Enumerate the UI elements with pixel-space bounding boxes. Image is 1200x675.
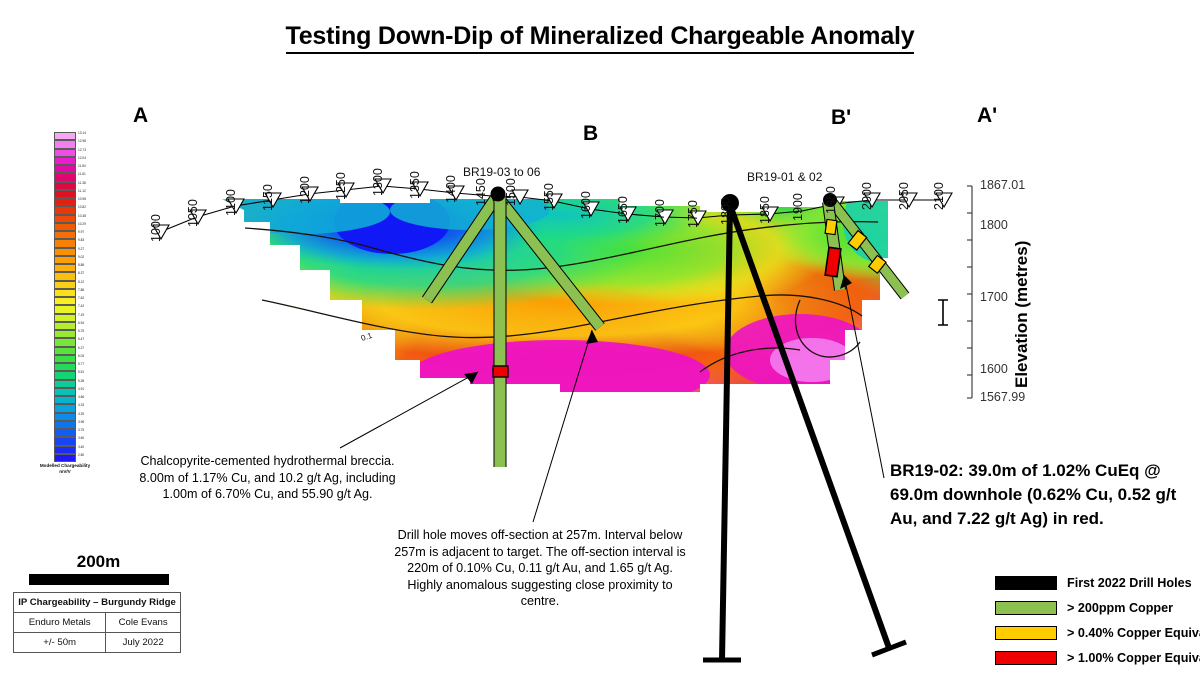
section-end-label: B' [831,106,851,130]
legend-item: > 200ppm Copper [995,595,1195,620]
station-label: 1700 [653,199,667,227]
station-label: 1100 [224,189,238,216]
station-label: 1900 [791,193,805,221]
station-label: 1850 [758,196,772,224]
legend-swatch [995,601,1057,615]
station-label: 1250 [334,172,348,200]
elevation-tick-1700: 1700 [980,290,1008,304]
station-label: 1000 [149,214,163,242]
section-end-label: A' [977,104,997,128]
legend-label: > 0.40% Copper Equivalent [1067,626,1200,640]
elevation-axis [967,186,972,398]
info-table: IP Chargeability – Burgundy Ridge Enduro… [13,592,181,653]
station-label: 1550 [542,183,556,211]
legend-item: > 0.40% Copper Equivalent [995,620,1195,645]
annotation-off-section: Drill hole moves off-section at 257m. In… [390,527,690,610]
scale-bar-label: 200m [16,552,181,572]
info-table-accuracy: +/- 50m [14,633,106,653]
station-label: 1500 [504,178,518,206]
legend-item: First 2022 Drill Holes [995,570,1195,595]
station-label: 1450 [474,178,488,206]
info-table-company: Enduro Metals [14,613,106,633]
station-label: 2050 [897,182,911,210]
station-label: 1800 [719,197,733,225]
elevation-tick-1800: 1800 [980,218,1008,232]
station-label: 1750 [686,200,700,228]
section-end-label: B [583,122,598,146]
annotation-chalcopyrite: Chalcopyrite-cemented hydrothermal brecc… [130,453,405,503]
legend-label: > 1.00% Copper Equivalent [1067,651,1200,665]
elevation-axis-title: Elevation (metres) [1012,241,1032,388]
station-label: 1050 [186,199,200,227]
station-label: 1350 [408,171,422,199]
station-label: 2100 [932,182,946,210]
station-label: 1600 [579,191,593,219]
legend-swatch [995,626,1057,640]
elevation-tick-1568: 1567.99 [980,390,1025,404]
station-label: 2000 [860,182,874,210]
legend-label: > 200ppm Copper [1067,601,1173,615]
scale-bar [29,574,169,585]
figure-canvas: Testing Down-Dip of Mineralized Chargeab… [0,0,1200,675]
station-label: 1300 [371,168,385,196]
info-table-author: Cole Evans [106,613,181,633]
station-label: 1400 [444,175,458,203]
mineralized-interval-red [493,366,508,377]
drillhole-collar-label: BR19-03 to 06 [463,165,540,179]
section-end-label: A [133,104,148,128]
annotation-br19-02: BR19-02: 39.0m of 1.02% CuEq @ 69.0m dow… [890,459,1190,531]
legend-swatch [995,651,1057,665]
legend-label: First 2022 Drill Holes [1067,576,1192,590]
legend-swatch [995,576,1057,590]
contour-label: 0.1 [360,331,374,343]
info-table-header: IP Chargeability – Burgundy Ridge [14,593,181,613]
info-table-date: July 2022 [106,633,181,653]
station-label: 1200 [298,176,312,204]
station-label: 1650 [616,196,630,224]
elevation-tick-1867: 1867.01 [980,178,1025,192]
legend: First 2022 Drill Holes> 200ppm Copper> 0… [995,570,1195,670]
legend-item: > 1.00% Copper Equivalent [995,645,1195,670]
station-label: 1950 [824,186,838,214]
station-label: 1150 [261,184,275,211]
elevation-tick-1600: 1600 [980,362,1008,376]
drillhole-collar-label: BR19-01 & 02 [747,170,822,184]
